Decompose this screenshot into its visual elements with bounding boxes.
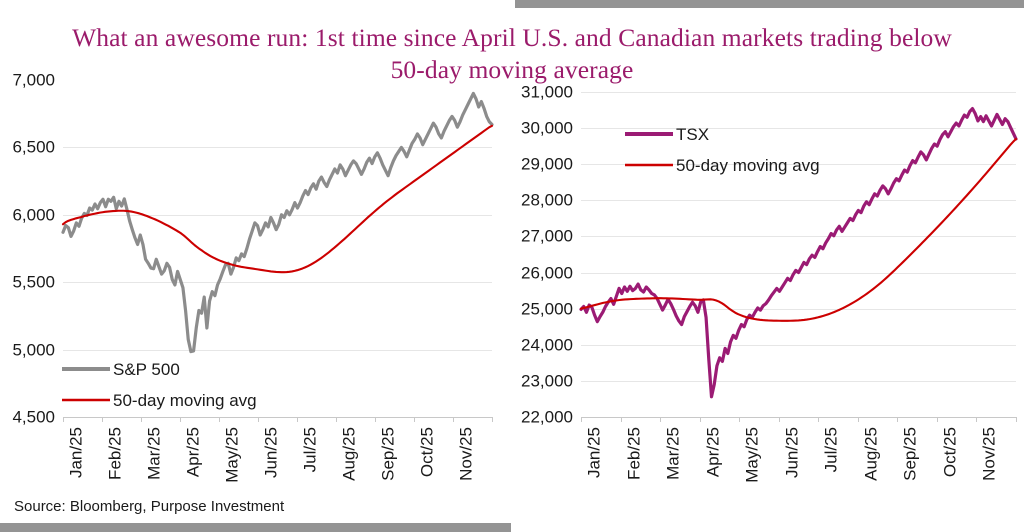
x-axis-tick-label: Sep/25	[901, 427, 920, 481]
y-axis-tick-label: 22,000	[521, 408, 573, 427]
legend-label: 50-day moving avg	[113, 391, 257, 410]
y-axis-tick-label: 24,000	[521, 336, 573, 355]
y-axis-tick-label: 26,000	[521, 264, 573, 283]
x-axis-tick-label: Jun/25	[783, 427, 802, 478]
y-axis-tick-label: 6,000	[12, 206, 55, 225]
x-axis-tick-label: Aug/25	[339, 427, 358, 481]
y-axis-tick-label: 25,000	[521, 300, 573, 319]
x-axis-tick-label: Nov/25	[456, 427, 475, 481]
y-axis-tick-label: 29,000	[521, 155, 573, 174]
x-axis-tick-label: Jan/25	[66, 427, 85, 478]
legend-label: TSX	[676, 125, 709, 144]
y-axis-tick-label: 30,000	[521, 119, 573, 138]
x-axis-tick-label: May/25	[743, 427, 762, 483]
sp500-chart: 4,5005,0005,5006,0006,5007,000Jan/25Feb/…	[0, 72, 510, 492]
x-axis-tick-label: Feb/25	[625, 427, 644, 480]
legend-label: S&P 500	[113, 360, 180, 379]
y-axis-tick-label: 6,500	[12, 138, 55, 157]
y-axis-tick-label: 27,000	[521, 227, 573, 246]
tsx-chart: 22,00023,00024,00025,00026,00027,00028,0…	[505, 82, 1024, 492]
series-line-primary	[581, 109, 1016, 397]
y-axis-tick-label: 31,000	[521, 83, 573, 102]
x-axis-tick-label: Jul/25	[822, 427, 841, 472]
x-axis-tick-label: Oct/25	[941, 427, 960, 477]
x-axis-tick-label: Mar/25	[664, 427, 683, 480]
x-axis-tick-label: May/25	[222, 427, 241, 483]
x-axis-tick-label: Jun/25	[261, 427, 280, 478]
source-note: Source: Bloomberg, Purpose Investment	[14, 498, 284, 515]
y-axis-tick-label: 7,000	[12, 72, 55, 90]
x-axis-tick-label: Apr/25	[704, 427, 723, 477]
x-axis-tick-label: Aug/25	[862, 427, 881, 481]
x-axis-tick-label: Sep/25	[378, 427, 397, 481]
bottom-decorative-bar	[0, 523, 511, 532]
y-axis-tick-label: 5,000	[12, 341, 55, 360]
x-axis-tick-label: Oct/25	[417, 427, 436, 477]
x-axis-tick-label: Mar/25	[144, 427, 163, 480]
top-decorative-bar	[515, 0, 1024, 8]
x-axis-tick-label: Feb/25	[105, 427, 124, 480]
y-axis-tick-label: 5,500	[12, 273, 55, 292]
x-axis-tick-label: Jan/25	[585, 427, 604, 478]
y-axis-tick-label: 4,500	[12, 408, 55, 427]
y-axis-tick-label: 28,000	[521, 191, 573, 210]
x-axis-tick-label: Jul/25	[300, 427, 319, 472]
legend-label: 50-day moving avg	[676, 156, 820, 175]
x-axis-tick-label: Apr/25	[183, 427, 202, 477]
x-axis-tick-label: Nov/25	[980, 427, 999, 481]
series-line-primary	[63, 93, 492, 351]
y-axis-tick-label: 23,000	[521, 372, 573, 391]
